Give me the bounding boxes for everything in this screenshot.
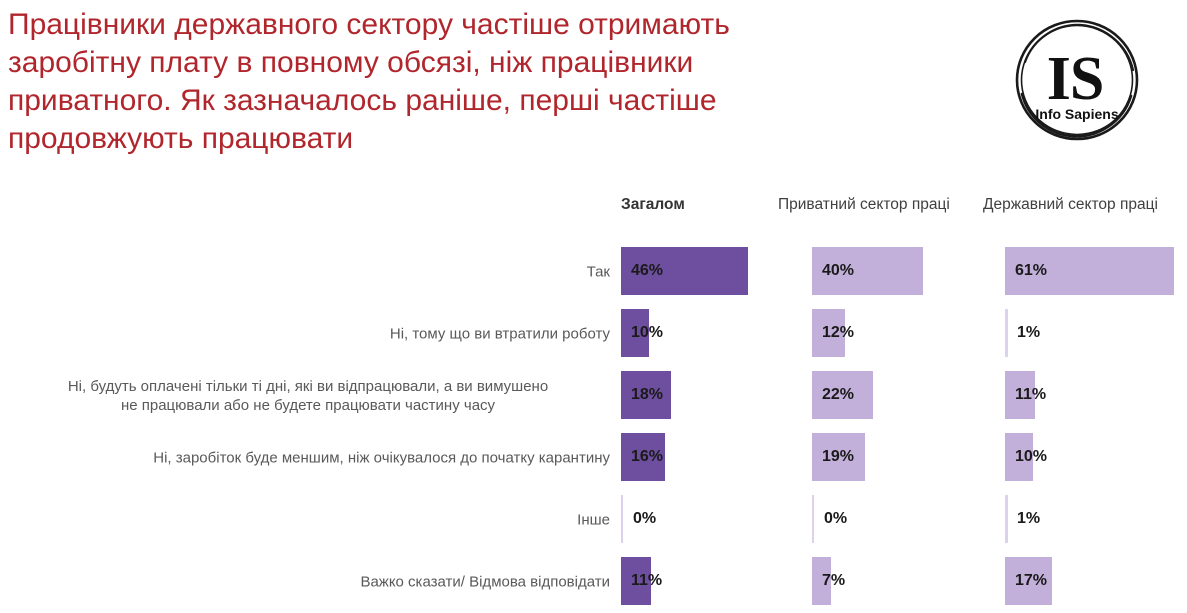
bar — [1005, 309, 1008, 357]
bar — [621, 495, 623, 543]
row-label-lower-earnings: Ні, заробіток буде меншим, ніж очікувало… — [6, 449, 610, 468]
bar-cell: 12% — [812, 303, 992, 365]
row-label-line: Так — [6, 263, 610, 282]
bar-cell: 1% — [1005, 303, 1185, 365]
column-header-total: Загалом — [621, 196, 685, 214]
bar-value-label: 1% — [1017, 495, 1040, 543]
chart-row-other: Інше0%0%1% — [0, 489, 1187, 551]
chart-row-yes: Так46%40%61% — [0, 241, 1187, 303]
row-label-line: Ні, тому що ви втратили роботу — [6, 325, 610, 344]
bar-value-label: 10% — [1015, 433, 1047, 481]
bar-cell: 0% — [621, 489, 801, 551]
bar-cell: 19% — [812, 427, 992, 489]
bar-value-label: 0% — [633, 495, 656, 543]
bar-value-label: 40% — [822, 247, 854, 295]
row-label-lost-job: Ні, тому що ви втратили роботу — [6, 325, 610, 344]
info-sapiens-logo: IS Info Sapiens — [1007, 14, 1147, 146]
row-label-line: Інше — [6, 511, 610, 530]
page-title: Працівники державного сектору частіше от… — [8, 6, 1008, 158]
chart-row-lost-job: Ні, тому що ви втратили роботу10%12%1% — [0, 303, 1187, 365]
row-label-line: Ні, заробіток буде меншим, ніж очікувало… — [6, 449, 610, 468]
bar-value-label: 19% — [822, 433, 854, 481]
bar-chart: Загалом Приватний сектор праці Державний… — [0, 196, 1187, 604]
row-label-other: Інше — [6, 511, 610, 530]
bar-cell: 18% — [621, 365, 801, 427]
row-label-only-worked-days: Ні, будуть оплачені тільки ті дні, які в… — [6, 377, 610, 415]
bar-cell: 16% — [621, 427, 801, 489]
title-line-2: заробітну плату в повному обсязі, ніж пр… — [8, 44, 1008, 82]
bar-value-label: 22% — [822, 371, 854, 419]
bar-value-label: 11% — [1015, 371, 1046, 419]
row-label-hard-to-say: Важко сказати/ Відмова відповідати — [6, 573, 610, 592]
bar — [812, 495, 814, 543]
bar-cell: 46% — [621, 241, 801, 303]
bar-value-label: 1% — [1017, 309, 1040, 357]
row-label-line: не працювали або не будете працювати час… — [6, 396, 610, 415]
bar-cell: 22% — [812, 365, 992, 427]
bar-value-label: 17% — [1015, 557, 1047, 605]
bar-value-label: 11% — [631, 557, 662, 605]
row-label-line: Ні, будуть оплачені тільки ті дні, які в… — [6, 377, 610, 396]
title-line-4: продовжують працювати — [8, 120, 1008, 158]
logo-wordmark: Info Sapiens — [1035, 106, 1118, 122]
bar-value-label: 18% — [631, 371, 663, 419]
column-header-row: Загалом Приватний сектор праці Державний… — [0, 196, 1187, 224]
bar-cell: 1% — [1005, 489, 1185, 551]
bar-cell: 11% — [1005, 365, 1185, 427]
bar-value-label: 7% — [822, 557, 845, 605]
bar — [1005, 495, 1008, 543]
bar-value-label: 16% — [631, 433, 663, 481]
bar-cell: 61% — [1005, 241, 1185, 303]
bar-value-label: 61% — [1015, 247, 1047, 295]
bar-value-label: 12% — [822, 309, 854, 357]
title-line-1: Працівники державного сектору частіше от… — [8, 6, 1008, 44]
bar-cell: 40% — [812, 241, 992, 303]
bar-cell: 0% — [812, 489, 992, 551]
logo-icon: IS Info Sapiens — [1007, 14, 1147, 146]
title-line-3: приватного. Як зазначалось раніше, перші… — [8, 82, 1008, 120]
row-label-yes: Так — [6, 263, 610, 282]
svg-text:IS: IS — [1047, 45, 1104, 113]
chart-row-only-worked-days: Ні, будуть оплачені тільки ті дні, які в… — [0, 365, 1187, 427]
bar-cell: 10% — [621, 303, 801, 365]
row-label-line: Важко сказати/ Відмова відповідати — [6, 573, 610, 592]
bar-value-label: 0% — [824, 495, 847, 543]
bar-value-label: 46% — [631, 247, 663, 295]
bar-cell: 10% — [1005, 427, 1185, 489]
chart-row-lower-earnings: Ні, заробіток буде меншим, ніж очікувало… — [0, 427, 1187, 489]
bar-value-label: 10% — [631, 309, 663, 357]
column-header-public: Державний сектор праці — [983, 196, 1158, 214]
column-header-private: Приватний сектор праці — [778, 196, 950, 214]
